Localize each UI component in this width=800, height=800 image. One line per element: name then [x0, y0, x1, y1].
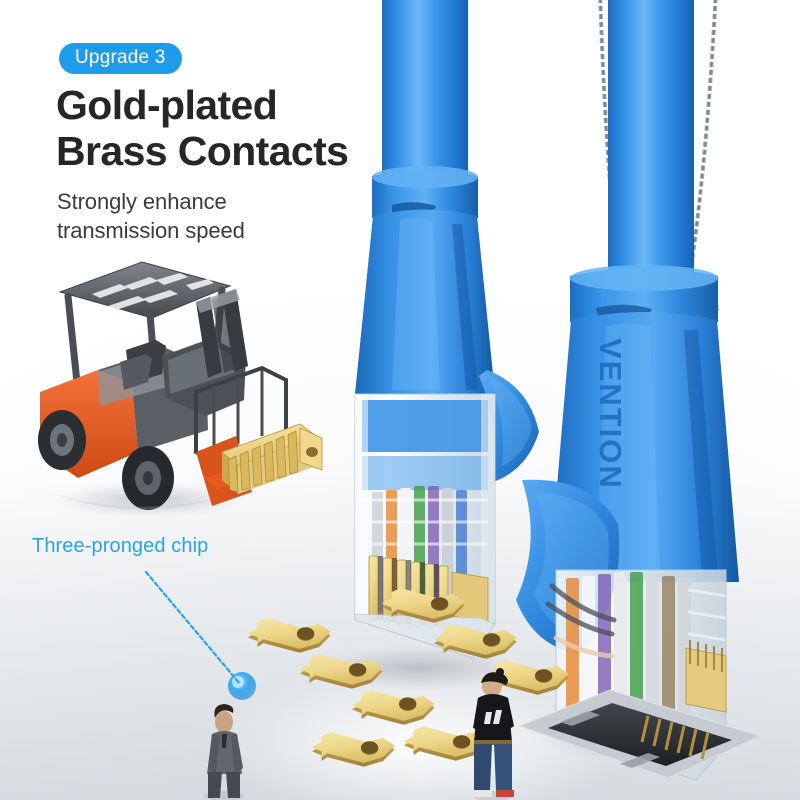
subtitle: Strongly enhance transmission speed: [57, 188, 357, 246]
subtitle-line-2: transmission speed: [57, 217, 357, 246]
gold-contact-highlighted: [352, 690, 435, 725]
upgrade-badge: Upgrade 3: [59, 43, 182, 74]
forklift: [38, 262, 322, 520]
page-title: Gold-plated Brass Contacts: [56, 82, 396, 175]
person-suit: [204, 704, 244, 800]
callout-label: Three-pronged chip: [32, 535, 208, 558]
product-image-canvas: VENTION: [0, 0, 800, 800]
gold-contact: [312, 732, 395, 767]
headline-line-2: Brass Contacts: [56, 128, 396, 174]
headline-line-1: Gold-plated: [56, 82, 277, 128]
rj45-connector-right: VENTION: [516, 0, 760, 780]
brand-emboss-text: VENTION: [593, 338, 628, 490]
subtitle-line-1: Strongly enhance: [57, 189, 227, 214]
gold-contact: [248, 618, 331, 653]
callout-leader-line: [146, 572, 240, 684]
